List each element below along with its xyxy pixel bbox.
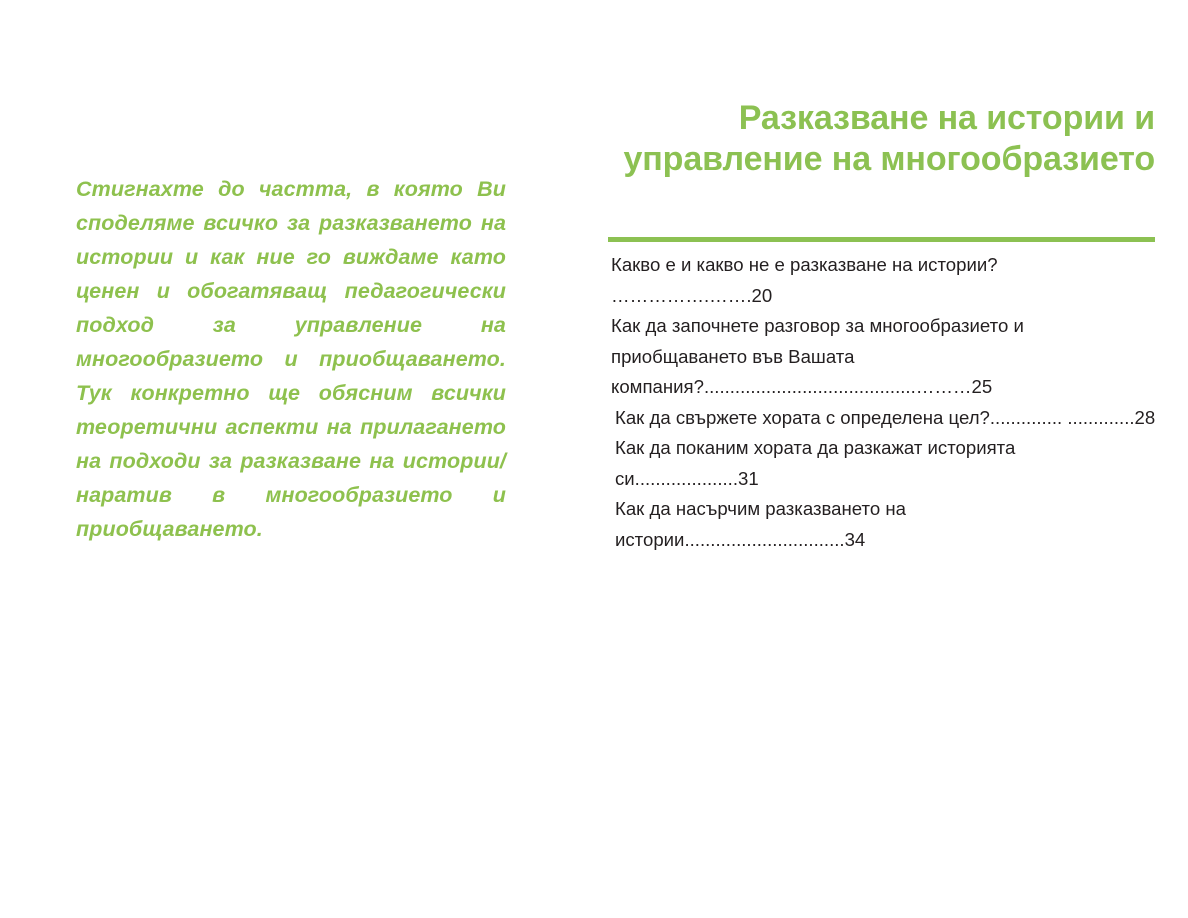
table-of-contents-block: Разказване на истории и управление на мн…	[565, 98, 1156, 180]
page-title: Разказване на истории и управление на мн…	[565, 98, 1155, 180]
toc-entry[interactable]: Как да свържете хората с определена цел?…	[611, 403, 1156, 434]
intro-paragraph: Стигнахте до частта, в която Ви споделям…	[76, 172, 506, 580]
slide-canvas: Стигнахте до частта, в която Ви споделям…	[0, 0, 1188, 918]
toc-entry[interactable]: Как да насърчим разказването на истории.…	[611, 494, 1156, 555]
table-of-contents-list: Какво е и какво не е разказване на истор…	[611, 250, 1156, 555]
toc-entry[interactable]: Как да поканим хората да разкажат истори…	[611, 433, 1156, 494]
title-divider-rule	[608, 237, 1155, 242]
toc-entry[interactable]: Какво е и какво не е разказване на истор…	[611, 250, 1156, 311]
toc-entry[interactable]: Как да започнете разговор за многообрази…	[611, 311, 1156, 403]
intro-text-block: Стигнахте до частта, в която Ви споделям…	[76, 172, 506, 580]
